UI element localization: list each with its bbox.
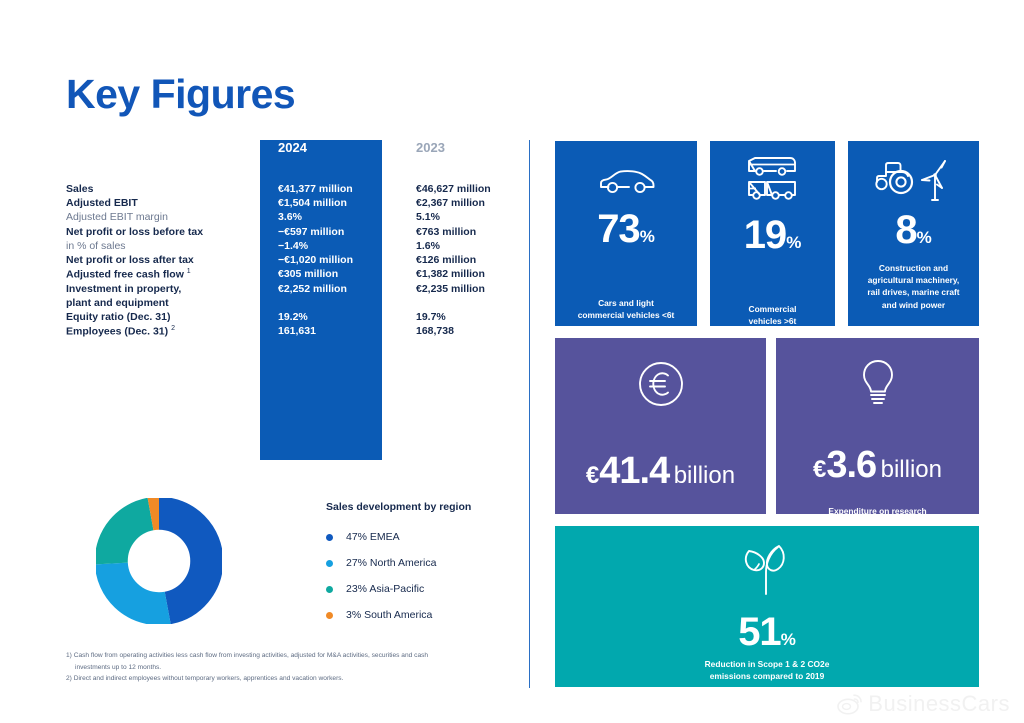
row-sublabel: Adjusted EBIT margin xyxy=(66,210,260,224)
card-value: 73% xyxy=(555,209,697,249)
table-row: Investment in property, plant and equipm… xyxy=(66,282,545,310)
table-row: Adjusted free cash flow 1 €305 million €… xyxy=(66,267,545,282)
row-footnote-marker: 2 xyxy=(171,325,175,332)
card-value: €3.6 billion xyxy=(776,444,979,487)
card-co2-reduction: 51% Reduction in Scope 1 & 2 CO2e emissi… xyxy=(555,526,979,687)
legend-label: 23% Asia-Pacific xyxy=(346,583,424,595)
row-label: Equity ratio (Dec. 31) xyxy=(66,310,260,324)
row-value-2024: 19.2% xyxy=(260,310,400,324)
infographic-page: Key Figures 2024 2023 Sales €41,377 mill… xyxy=(0,0,1024,723)
card-caption-line3: rail drives, marine craft xyxy=(848,286,979,298)
row-value-2024: €1,504 million xyxy=(260,196,400,210)
card-number: 19 xyxy=(744,213,787,257)
donut-chart-svg xyxy=(96,498,222,624)
row-value-2023: 168,738 xyxy=(400,324,545,338)
row-sublabel: in % of sales xyxy=(66,239,260,253)
table-row: Sales €41,377 million €46,627 million xyxy=(66,182,545,196)
card-number: 73 xyxy=(597,207,640,251)
row-subvalue-2023: 5.1% xyxy=(400,210,545,224)
row-label: Employees (Dec. 31) 2 xyxy=(66,324,260,339)
card-caption: Reduction in Scope 1 & 2 CO2e emissions … xyxy=(555,658,979,682)
footnote-1-line2: investments up to 12 months. xyxy=(66,662,518,674)
card-unit: % xyxy=(640,227,655,246)
card-caption: Commercial vehicles >6t xyxy=(710,303,835,327)
card-cars: 73% Cars and light commercial vehicles <… xyxy=(555,141,697,326)
card-value: 19% xyxy=(710,215,835,255)
card-unit: billion xyxy=(881,456,942,483)
legend-item-north-america: 27% North America xyxy=(326,550,471,576)
card-commercial-vehicles: 19% Commercial vehicles >6t xyxy=(710,141,835,326)
row-label-line2: plant and equipment xyxy=(66,296,260,310)
row-value-2023: €1,382 million xyxy=(400,267,545,281)
card-caption-line2: commercial vehicles <6t xyxy=(555,309,697,321)
card-unit: % xyxy=(917,228,932,247)
card-currency-symbol: € xyxy=(586,462,599,489)
card-unit: % xyxy=(781,630,796,649)
card-value: 51% xyxy=(555,612,979,652)
table-row: Adjusted EBIT Adjusted EBIT margin €1,50… xyxy=(66,196,545,224)
table-row: Equity ratio (Dec. 31) 19.2% 19.7% xyxy=(66,310,545,324)
card-number: 8 xyxy=(895,208,916,252)
row-value-2023: €763 million xyxy=(400,225,545,239)
legend-label: 47% EMEA xyxy=(346,531,400,543)
key-figures-table-wrap: 2024 2023 Sales €41,377 million €46,627 … xyxy=(66,140,511,339)
card-sales: €41.4 billion Sales xyxy=(555,338,766,514)
legend-item-asia-pacific: 23% Asia-Pacific xyxy=(326,576,471,602)
row-value-2024: €2,252 million xyxy=(260,282,400,296)
header-year-2023: 2023 xyxy=(400,140,545,182)
card-caption: Cars and light commercial vehicles <6t xyxy=(555,297,697,321)
card-unit: billion xyxy=(674,462,735,489)
vertical-divider xyxy=(529,140,530,688)
legend-swatch-icon xyxy=(326,586,333,593)
row-footnote-marker: 1 xyxy=(187,268,191,275)
card-caption-line1: Commercial xyxy=(710,303,835,315)
row-value-2023: €46,627 million xyxy=(400,182,545,196)
row-label: Net profit or loss after tax xyxy=(66,253,260,267)
legend-swatch-icon xyxy=(326,534,333,541)
card-caption-line1: Construction and xyxy=(848,262,979,274)
key-figures-table: 2024 2023 Sales €41,377 million €46,627 … xyxy=(66,140,545,339)
row-subvalue-2024: −1.4% xyxy=(260,239,400,253)
card-caption-line2: agricultural machinery, xyxy=(848,274,979,286)
watermark-text: BusinessCars xyxy=(868,691,1010,717)
card-number: 51 xyxy=(738,610,781,654)
card-caption: Construction and agricultural machinery,… xyxy=(848,262,979,311)
card-unit: % xyxy=(786,233,801,252)
row-label: Net profit or loss before tax xyxy=(66,225,260,239)
footnote-2: 2) Direct and indirect employees without… xyxy=(66,673,518,685)
header-empty-cell xyxy=(66,140,260,182)
row-value-2024: €305 million xyxy=(260,267,400,281)
row-value-2023: €2,367 million xyxy=(400,196,545,210)
card-caption-line2: vehicles >6t xyxy=(710,315,835,327)
chart-title: Sales development by region xyxy=(326,501,471,513)
card-value: €41.4 billion xyxy=(555,450,766,493)
legend-label: 3% South America xyxy=(346,609,432,621)
table-header-row: 2024 2023 xyxy=(66,140,545,182)
card-number: 3.6 xyxy=(826,444,876,486)
row-value-2024: 161,631 xyxy=(260,324,400,338)
row-label: Sales xyxy=(66,182,260,196)
card-currency-symbol: € xyxy=(813,456,826,483)
row-subvalue-2023: 1.6% xyxy=(400,239,545,253)
legend-label: 27% North America xyxy=(346,557,436,569)
card-caption-line1: Expenditure on research xyxy=(776,505,979,517)
header-year-2024: 2024 xyxy=(260,140,400,182)
footnotes: 1) Cash flow from operating activities l… xyxy=(66,650,518,685)
legend-swatch-icon xyxy=(326,560,333,567)
row-value-2023: €126 million xyxy=(400,253,545,267)
row-label: Adjusted free cash flow 1 xyxy=(66,267,260,282)
page-title: Key Figures xyxy=(66,74,295,115)
row-label-text: Adjusted free cash flow xyxy=(66,269,184,281)
row-value-2023: 19.7% xyxy=(400,310,545,324)
chart-legend: Sales development by region 47% EMEA 27%… xyxy=(326,501,471,628)
euro-circle-icon xyxy=(637,360,685,408)
card-caption-line4: and wind power xyxy=(848,299,979,311)
key-figures-table-section: 2024 2023 Sales €41,377 million €46,627 … xyxy=(66,140,511,339)
bus-truck-icon xyxy=(746,157,800,205)
row-subvalue-2024: 3.6% xyxy=(260,210,400,224)
card-offhighway: 8% Construction and agricultural machine… xyxy=(848,141,979,326)
card-caption-line1: Cars and light xyxy=(555,297,697,309)
card-caption-line1: Reduction in Scope 1 & 2 CO2e xyxy=(555,658,979,670)
row-label: Adjusted EBIT xyxy=(66,196,260,210)
card-caption-line2: emissions compared to 2019 xyxy=(555,670,979,682)
row-value-2024: €41,377 million xyxy=(260,182,400,196)
watermark: BusinessCars xyxy=(837,691,1010,717)
sales-by-region-chart: Sales development by region 47% EMEA 27%… xyxy=(66,498,516,633)
row-value-2024: −€1,020 million xyxy=(260,253,400,267)
footnote-1-line1: 1) Cash flow from operating activities l… xyxy=(66,650,518,662)
card-research-development: €3.6 billion Expenditure on research and… xyxy=(776,338,979,514)
row-label: Investment in property, xyxy=(66,282,260,296)
legend-item-emea: 47% EMEA xyxy=(326,524,471,550)
table-row: Net profit or loss after tax −€1,020 mil… xyxy=(66,253,545,267)
card-value: 8% xyxy=(848,210,979,250)
donut-slice-south-america xyxy=(111,513,206,608)
weibo-icon xyxy=(837,693,863,715)
car-icon xyxy=(595,167,657,197)
lightbulb-icon xyxy=(858,358,898,408)
legend-item-south-america: 3% South America xyxy=(326,602,471,628)
tractor-turbine-icon xyxy=(872,158,956,202)
row-value-2024: −€597 million xyxy=(260,225,400,239)
legend-swatch-icon xyxy=(326,612,333,619)
card-number: 41.4 xyxy=(599,450,669,492)
row-label-text: Employees (Dec. 31) xyxy=(66,326,168,338)
row-value-2023: €2,235 million xyxy=(400,282,545,296)
table-row: Employees (Dec. 31) 2 161,631 168,738 xyxy=(66,324,545,339)
plant-leaf-icon xyxy=(738,544,796,596)
table-row: Net profit or loss before tax in % of sa… xyxy=(66,225,545,253)
